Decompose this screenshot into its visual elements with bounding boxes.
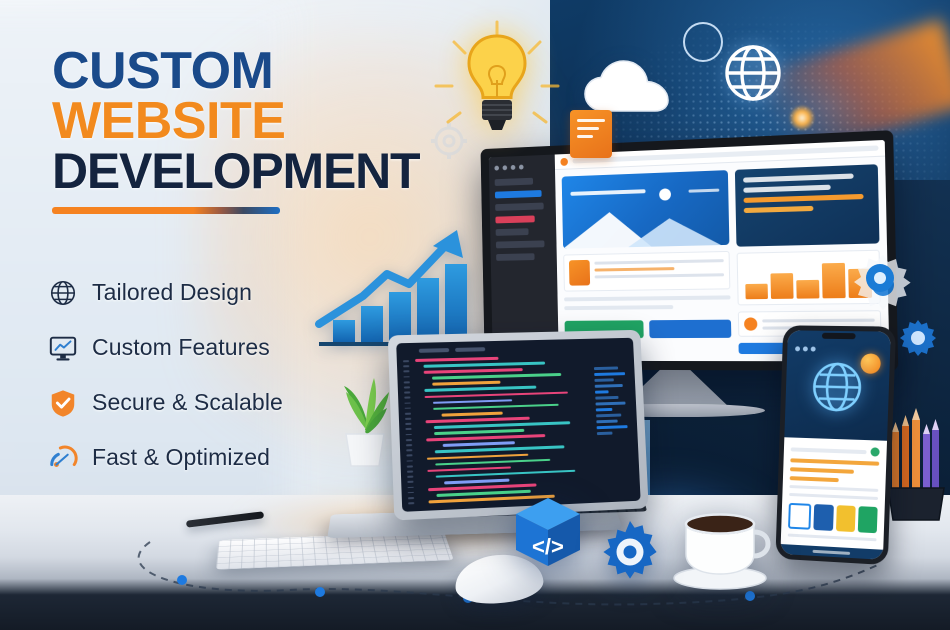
hero-sub-line (689, 189, 720, 193)
monitor-chart-icon (48, 333, 78, 363)
feature-item-fast-optimized: Fast & Optimized (48, 430, 378, 485)
sidebar-line-alert (495, 215, 535, 223)
laptop-screen (396, 338, 640, 512)
feature-list: Tailored Design Custom Features Secure &… (48, 265, 378, 485)
light-flare-dot (789, 105, 815, 131)
sidebar-line (496, 253, 534, 261)
card-lines (594, 257, 724, 285)
cloud-icon (580, 55, 676, 117)
phone-text-line (788, 534, 877, 542)
phone-menu-dots[interactable] (795, 346, 882, 352)
feature-label: Fast & Optimized (92, 444, 270, 471)
coffee-cup (668, 498, 776, 590)
feature-item-tailored-design: Tailored Design (48, 265, 378, 320)
mock-sidebar (489, 155, 559, 361)
phone-app-header (784, 330, 890, 440)
code-cube-symbol: </> (532, 534, 564, 559)
promotional-banner: CUSTOM WEBSITE DEVELOPMENT Tailored Desi… (0, 0, 950, 630)
phone-search-row[interactable] (791, 444, 880, 456)
feature-label: Secure & Scalable (92, 389, 283, 416)
headline-line-1: CUSTOM (52, 46, 452, 96)
tile-green[interactable] (858, 506, 878, 533)
tile-outline[interactable] (788, 503, 812, 530)
phone-highlight-line (790, 467, 854, 474)
gear-3d (596, 518, 664, 586)
window-dots (494, 164, 549, 171)
card-thumbnail (569, 260, 590, 286)
headline-divider (52, 207, 280, 214)
ring-node-icon (683, 22, 723, 62)
sidebar-line (495, 178, 533, 186)
mock-button-blue[interactable] (649, 320, 731, 338)
mock-dark-panel (735, 164, 879, 246)
mountain-graphic (562, 202, 729, 248)
hero-title-line (570, 189, 645, 196)
code-cube: </> (508, 492, 588, 572)
phone-highlight-line (790, 458, 879, 465)
sidebar-line (496, 228, 529, 236)
phone-screen (780, 330, 890, 560)
mock-paragraph (564, 295, 731, 315)
phone-globe-icon (808, 359, 865, 416)
lightbulb-icon (455, 30, 539, 140)
sidebar-line (496, 240, 544, 248)
shield-check-icon (48, 388, 78, 418)
sun-shape (659, 188, 671, 200)
phone-color-tiles[interactable] (788, 503, 878, 533)
globe-icon (48, 278, 78, 308)
document-icon (570, 110, 612, 158)
code-minimap (593, 345, 635, 496)
tile-blue[interactable] (814, 504, 834, 531)
code-editor[interactable] (415, 346, 600, 504)
phone-app-body (781, 437, 887, 549)
phone-highlight-line (790, 476, 839, 482)
headline-line-3: DEVELOPMENT (52, 147, 452, 196)
phone-text-line (789, 493, 878, 500)
headline-line-2: WEBSITE (52, 96, 452, 146)
feature-item-custom-features: Custom Features (48, 320, 378, 375)
feed-avatar (744, 317, 757, 330)
favicon-icon (560, 157, 568, 165)
mock-card-row (563, 251, 730, 292)
sidebar-line-active (495, 190, 542, 198)
feature-label: Tailored Design (92, 279, 252, 306)
speedometer-icon (48, 443, 78, 473)
sidebar-line (495, 203, 543, 211)
phone-text-line (789, 485, 878, 492)
tile-yellow[interactable] (835, 505, 855, 532)
mock-main-column (562, 170, 732, 354)
smartphone (775, 325, 896, 565)
globe-network-icon (722, 42, 784, 104)
mock-card (563, 251, 730, 292)
page-title: CUSTOM WEBSITE DEVELOPMENT (52, 46, 452, 214)
hero-banner (562, 170, 730, 249)
feature-item-secure-scalable: Secure & Scalable (48, 375, 378, 430)
feature-label: Custom Features (92, 334, 270, 361)
phone-notch (822, 333, 856, 339)
gear-blue-icon-1 (860, 258, 900, 298)
gear-blue-icon-2 (898, 318, 938, 358)
